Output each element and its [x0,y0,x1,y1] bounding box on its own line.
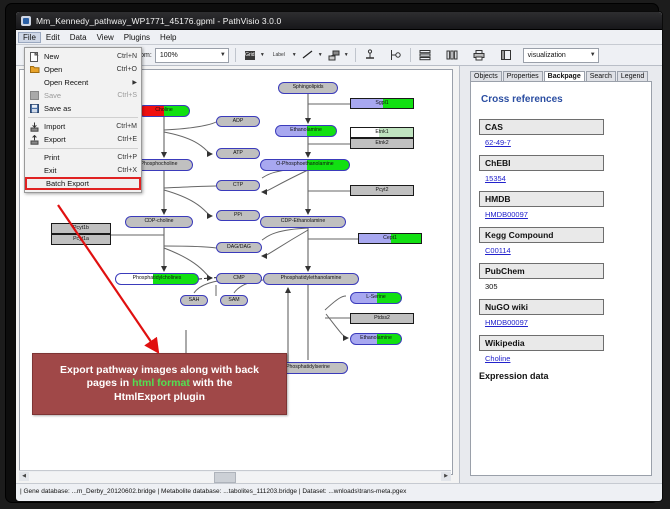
menu-view[interactable]: View [92,32,119,43]
canvas-hscrollbar[interactable]: ◀ ▶ [19,470,451,481]
stack-icon[interactable] [417,47,433,63]
xref-database-kegg-compound: Kegg Compound [479,227,604,243]
xref-value-cas[interactable]: 62-49-7 [485,138,643,147]
xref-database-nugo-wiki: NuGO wiki [479,299,604,315]
file-menu-popup[interactable]: NewCtrl+NOpenCtrl+OOpen Recent▶SaveCtrl+… [24,47,142,193]
tab-legend[interactable]: Legend [617,71,648,81]
node-label: Etnk1 [375,130,388,135]
pathway-node-etnk2[interactable]: Etnk2 [350,138,414,149]
hscroll-thumb[interactable] [214,472,236,483]
menu-bar: File Edit Data View Plugins Help [16,30,662,45]
chevron-down-icon: ▼ [590,52,596,58]
xref-value-hmdb[interactable]: HMDB00097 [485,210,643,219]
hscroll-track[interactable] [29,472,441,481]
menu-item-label: Batch Export [46,179,131,188]
menu-item-accelerator: Ctrl+P [117,154,137,161]
scroll-right-icon[interactable]: ▶ [441,472,451,481]
xref-database-chebi: ChEBI [479,155,604,171]
grid-icon[interactable]: Grid [242,47,258,63]
anchor-icon[interactable] [362,47,378,63]
menu-item-label: Open Recent [44,78,124,87]
pathway-node-cept1[interactable]: Cept1 [358,233,422,244]
menu-item-label: Import [44,122,112,131]
menu-item-label: Open [44,65,113,74]
file-menu-item-batch-export[interactable]: Batch Export [25,177,141,190]
menu-separator [28,148,138,149]
zoom-combo[interactable]: 100% ▼ [155,48,229,63]
cross-reference-list: CAS62-49-7ChEBI15354HMDBHMDB00097Kegg Co… [479,119,643,363]
menu-item-label: Print [44,153,113,162]
print-icon[interactable] [471,47,487,63]
node-label: Pcyt1b [73,226,89,231]
menu-help[interactable]: Help [155,32,181,43]
no-icon [29,152,40,163]
pathway-node-sphingolipids[interactable]: Sphingolipids [278,82,338,94]
node-label: DAG/DAG [227,245,251,250]
title-bar: Mm_Kennedy_pathway_WP1771_45176.gpml - P… [16,12,662,30]
node-label: Ptdss2 [374,316,390,321]
node-label: Choline [155,108,173,113]
node-label: L-Serine [366,295,386,300]
cross-references-title: Cross references [481,94,643,105]
node-label: Phosphatidylcholines [133,276,182,281]
pathway-node-sam1[interactable]: SAM [220,295,248,306]
pathway-node-cdpcholine[interactable]: CDP-choline [125,216,193,228]
zoom-value: 100% [160,52,178,59]
tab-objects[interactable]: Objects [470,71,502,81]
menu-item-accelerator: Ctrl+E [117,136,137,143]
xref-value-pubchem: 305 [485,282,643,291]
line-icon[interactable] [300,47,316,63]
window-frame: Mm_Kennedy_pathway_WP1771_45176.gpml - P… [6,4,658,502]
pathway-node-ethanolamine1[interactable]: Ethanolamine [275,125,337,137]
file-menu-item-export[interactable]: ExportCtrl+E [25,133,141,146]
cross-reference-row: HMDBHMDB00097 [479,191,643,219]
pathway-node-etnk1[interactable]: Etnk1 [350,127,414,138]
xref-database-wikipedia: Wikipedia [479,335,604,351]
status-bar: | Gene database: ...m_Derby_20120602.bri… [16,483,662,498]
chevron-down-icon[interactable]: ▼ [260,52,265,58]
window-title: Mm_Kennedy_pathway_WP1771_45176.gpml - P… [36,16,281,26]
node-label: Phosphatidylethanolamine [281,276,342,281]
node-label: Etnk2 [375,141,388,146]
menu-item-label: Save as [44,104,133,113]
cross-reference-row: PubChem305 [479,263,643,291]
menu-item-accelerator: Ctrl+S [117,92,137,99]
node-label: CDP-Ethanolamine [281,219,325,224]
pathway-node-phosphatidylcholines[interactable]: Phosphatidylcholines [115,273,199,285]
callout-html-format: html format [132,377,190,389]
pathway-node-cdpethanolamine[interactable]: CDP-Ethanolamine [260,216,346,228]
file-menu-item-save-as[interactable]: Save as [25,102,141,115]
menu-item-label: Save [44,91,113,100]
menu-item-accelerator: Ctrl+N [117,53,137,60]
node-label: SAM [228,298,239,303]
menu-item-label: Export [44,135,113,144]
xref-database-cas: CAS [479,119,604,135]
pathvisio-icon [21,16,31,26]
file-menu-item-exit[interactable]: ExitCtrl+X [25,164,141,177]
pathway-node-pcyt2[interactable]: Pcyt2 [350,185,414,196]
menu-item-accelerator: Ctrl+O [117,66,137,73]
node-label: Phosphatidylserine [286,365,330,370]
node-label: PPi [234,213,242,218]
chevron-down-icon: ▼ [220,52,226,58]
menu-file[interactable]: File [18,32,41,43]
pathway-node-dagdag[interactable]: DAG/DAG [216,242,262,253]
expression-data-title: Expression data [479,371,643,381]
export-icon [29,134,40,145]
node-label: Pcyt1a [73,237,89,242]
cross-reference-row: NuGO wikiHMDB00097 [479,299,643,327]
menu-edit[interactable]: Edit [41,32,65,43]
chevron-down-icon[interactable]: ▼ [344,52,349,58]
label-button[interactable]: Label [268,47,290,63]
node-label: CMP [233,276,245,281]
node-label: Pcyt2 [376,188,389,193]
menu-separator [28,117,138,118]
chevron-right-icon: ▶ [132,79,137,86]
import-icon [29,121,40,132]
xref-value-nugo-wiki[interactable]: HMDB00097 [485,318,643,327]
backpage-content[interactable]: Cross references CAS62-49-7ChEBI15354HMD… [470,81,652,476]
node-label: Ethanolamine [360,336,392,341]
screenshot-root: Mm_Kennedy_pathway_WP1771_45176.gpml - P… [0,0,670,509]
pathway-node-sgpl1[interactable]: Sgpl1 [350,98,414,109]
xref-value-kegg-compound[interactable]: C00114 [485,246,643,255]
cross-reference-row: CAS62-49-7 [479,119,643,147]
xref-value-chebi[interactable]: 15354 [485,174,643,183]
callout-line-2: pages in html format with the [87,377,233,390]
visualization-combo[interactable]: visualization ▼ [523,48,599,63]
pathway-node-ophosphoeth[interactable]: O-Phosphoethanolamine [260,159,350,171]
pathway-node-pcyt1b[interactable]: Pcyt1b [51,223,111,234]
cross-reference-row: Kegg CompoundC00114 [479,227,643,255]
cross-reference-row: ChEBI15354 [479,155,643,183]
node-label: Sgpl1 [375,101,388,106]
pathway-node-lserine[interactable]: L-Serine [350,292,402,304]
new-file-icon [29,51,40,62]
pathway-node-adp[interactable]: ADP [216,116,260,127]
cross-reference-row: WikipediaCholine [479,335,643,363]
xref-value-wikipedia[interactable]: Choline [485,354,643,363]
pathway-node-sah1[interactable]: SAH [180,295,208,306]
scroll-left-icon[interactable]: ◀ [19,472,29,481]
annotation-callout: Export pathway images along with back pa… [32,353,287,415]
node-label: Sphingolipids [293,85,324,90]
node-shape-icon[interactable] [326,47,342,63]
pathvisio-window: Mm_Kennedy_pathway_WP1771_45176.gpml - P… [15,11,663,502]
columns-icon[interactable] [444,47,460,63]
visualization-value: visualization [528,52,566,59]
pathway-node-choline[interactable]: Choline [138,105,190,117]
menu-data[interactable]: Data [65,32,92,43]
status-text: | Gene database: ...m_Derby_20120602.bri… [20,488,406,495]
pathway-node-cmp[interactable]: CMP [216,273,262,284]
node-label: ATP [233,151,243,156]
menu-item-accelerator: Ctrl+X [117,167,137,174]
tab-properties[interactable]: Properties [503,71,543,81]
pathway-node-phosphatidyleth[interactable]: Phosphatidylethanolamine [263,273,359,285]
callout-line-2-a: pages in [87,377,133,389]
callout-line-3: HtmlExport plugin [114,391,205,404]
node-label: CTP [233,183,243,188]
file-menu-item-import[interactable]: ImportCtrl+M [25,120,141,133]
node-label: Cept1 [383,236,397,241]
xref-database-pubchem: PubChem [479,263,604,279]
side-panel-icon[interactable] [498,47,514,63]
folder-open-icon [29,64,40,75]
pathway-node-pcyt1a[interactable]: Pcyt1a [51,234,111,245]
file-menu-item-open-recent[interactable]: Open Recent▶ [25,76,141,89]
node-label: Ethanolamine [290,128,322,133]
menu-item-label: Exit [44,166,113,175]
node-label: SAH [189,298,200,303]
tab-search[interactable]: Search [586,71,616,81]
file-menu-item-new[interactable]: NewCtrl+N [25,50,141,63]
pathway-node-ethanolamine2[interactable]: Ethanolamine [350,333,402,345]
pathway-node-ctp[interactable]: CTP [216,180,260,191]
menu-item-label: New [44,52,113,61]
chevron-down-icon[interactable]: ▼ [318,52,323,58]
callout-line-2-c: with the [190,377,233,389]
callout-line-1: Export pathway images along with back [60,364,259,377]
node-label: O-Phosphoethanolamine [276,162,333,167]
node-label: ADP [233,119,244,124]
file-menu-item-save: SaveCtrl+S [25,89,141,102]
file-menu-item-open[interactable]: OpenCtrl+O [25,63,141,76]
chevron-down-icon[interactable]: ▼ [292,52,297,58]
no-icon [31,178,42,189]
align-left-icon[interactable] [388,47,404,63]
pathway-node-atp[interactable]: ATP [216,148,260,159]
menu-item-accelerator: Ctrl+M [116,123,137,130]
file-menu-item-print[interactable]: PrintCtrl+P [25,151,141,164]
node-label: Phosphocholine [141,162,178,167]
xref-database-hmdb: HMDB [479,191,604,207]
pathway-node-ppi[interactable]: PPi [216,210,260,221]
no-icon [29,77,40,88]
no-icon [29,165,40,176]
menu-plugins[interactable]: Plugins [119,32,155,43]
right-panel: Objects Properties Backpage Search Legen… [460,66,660,483]
node-label: CDP-choline [144,219,173,224]
panel-tabs: Objects Properties Backpage Search Legen… [460,66,660,81]
save-as-icon [29,103,40,114]
save-icon [29,90,40,101]
pathway-node-ptdss2[interactable]: Ptdss2 [350,313,414,324]
